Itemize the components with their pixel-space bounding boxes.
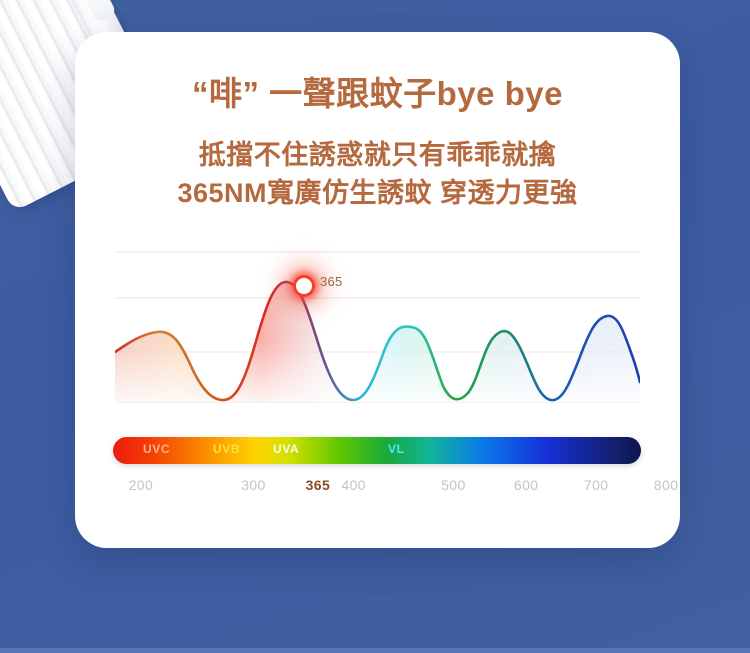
- spectrum-bar: UVC UVB UVA VL: [113, 437, 641, 464]
- page-title: “啡” 一聲跟蚊子bye bye: [75, 74, 680, 114]
- peak-marker-365: [293, 275, 315, 297]
- subheading-line-2: 365NM寬廣仿生誘蚊 穿透力更強: [75, 174, 680, 212]
- axis-tick-800: 800: [654, 477, 679, 493]
- info-card: “啡” 一聲跟蚊子bye bye 抵擋不住誘惑就只有乖乖就擒 365NM寬廣仿生…: [75, 32, 680, 548]
- spectrum-band-uvb: UVB: [213, 442, 240, 456]
- subheading-line-1: 抵擋不住誘惑就只有乖乖就擒: [75, 136, 680, 174]
- axis-tick-500: 500: [441, 477, 466, 493]
- axis-tick-700: 700: [584, 477, 609, 493]
- page-root: ⏻ ✦ ○ “啡” 一聲跟蚊子bye bye 抵擋不住誘惑就只有乖乖就擒 365…: [0, 0, 750, 653]
- axis-tick-200: 200: [129, 477, 154, 493]
- spectrum-band-uvc: UVC: [143, 442, 170, 456]
- product-notch: [76, 0, 116, 23]
- wavelength-axis: 200 300 365 400 500 600 700 800: [95, 477, 655, 499]
- spectrum-chart: 365: [115, 240, 640, 412]
- spectrum-band-vl: VL: [388, 442, 405, 456]
- bottom-accent-strip: [0, 648, 750, 653]
- subheading: 抵擋不住誘惑就只有乖乖就擒 365NM寬廣仿生誘蚊 穿透力更強: [75, 136, 680, 213]
- axis-tick-600: 600: [514, 477, 539, 493]
- axis-tick-365: 365: [306, 477, 331, 493]
- spectrum-band-uva: UVA: [273, 442, 299, 456]
- axis-tick-400: 400: [341, 477, 366, 493]
- axis-tick-300: 300: [241, 477, 266, 493]
- spectrum-chart-svg: [115, 240, 640, 412]
- peak-label-365: 365: [320, 274, 343, 289]
